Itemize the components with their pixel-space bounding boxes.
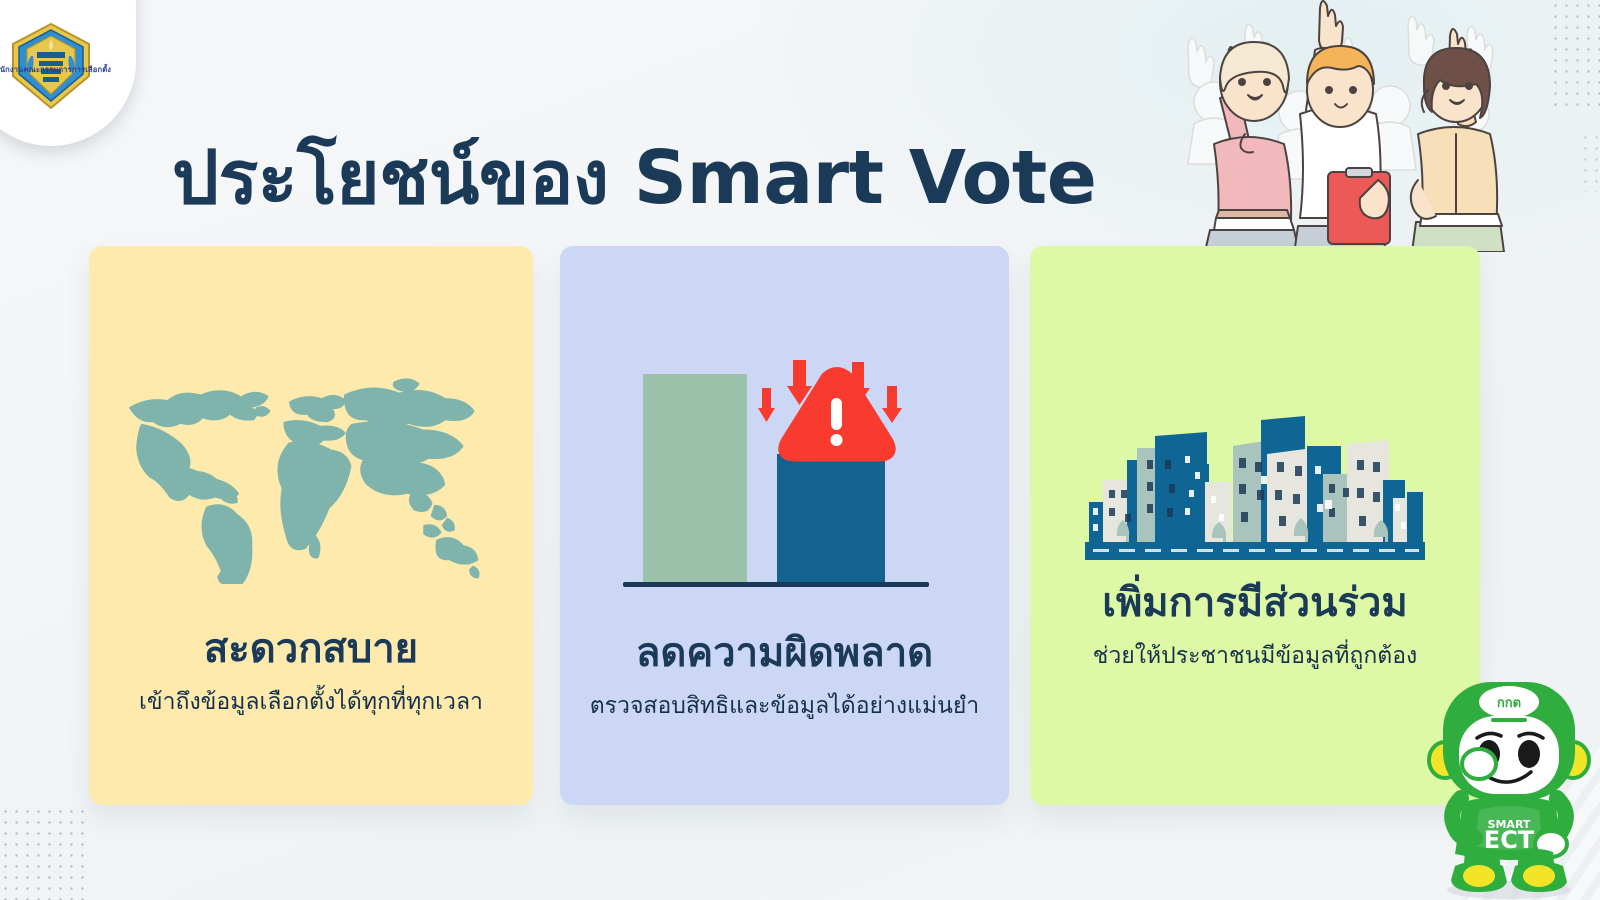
page-title: ประโยชน์ของ Smart Vote	[172, 118, 1096, 236]
bar-chart-with-warning-icon	[615, 336, 955, 604]
exclamation-bar	[831, 398, 842, 430]
dot-pattern-right-middle	[1580, 132, 1600, 192]
card-description: ช่วยให้ประชาชนมีข้อมูลที่ถูกต้อง	[1093, 638, 1418, 674]
card-heading: เพิ่มการมีส่วนร่วม	[1102, 582, 1407, 624]
mascot-hand-left	[1462, 749, 1496, 779]
exclamation-dot	[830, 434, 842, 446]
mascot-cap-brim	[1491, 718, 1527, 722]
mascot-eye-right	[1518, 740, 1540, 768]
down-arrow-1	[758, 388, 775, 422]
mascot-chest-main-text: ECT	[1484, 826, 1535, 854]
dot-pattern-top-right	[1550, 0, 1600, 114]
mascot-shoe-accent-right	[1523, 865, 1555, 887]
world-map-icon	[111, 354, 511, 584]
mascot-shoe-accent-left	[1463, 865, 1495, 887]
world-map-art-container	[89, 344, 533, 594]
bar-after	[777, 454, 885, 582]
smart-ect-mascot: กกต SMART ECT	[1421, 668, 1597, 900]
chart-baseline	[623, 582, 929, 587]
benefit-card-engagement: เพิ่มการมีส่วนร่วม ช่วยให้ประชาชนมีข้อมู…	[1030, 246, 1480, 805]
ect-logo-caption: สำนักงานคณะกรรมการการเลือกตั้ง	[0, 64, 136, 76]
dot-pattern-bottom-left	[0, 806, 88, 900]
people-raising-hands-illustration	[1150, 0, 1510, 252]
benefit-card-accuracy: ลดความผิดพลาด ตรวจสอบสิทธิและข้อมูลได้อย…	[560, 246, 1009, 805]
page-background: สำนักงานคณะกรรมการการเลือกตั้ง ประโยชน์ข…	[0, 0, 1600, 900]
card-description: เข้าถึงข้อมูลเลือกตั้งได้ทุกที่ทุกเวลา	[139, 684, 483, 720]
buildings	[1089, 416, 1423, 544]
card-heading: ลดความผิดพลาด	[636, 632, 933, 674]
cityscape-art-container	[1030, 404, 1480, 564]
down-arrow-4	[882, 386, 902, 423]
benefit-card-convenience: สะดวกสบาย เข้าถึงข้อมูลเลือกตั้งได้ทุกที…	[89, 246, 533, 805]
mascot-cap-text: กกต	[1497, 696, 1521, 711]
cityscape-icon	[1085, 404, 1425, 564]
card-description: ตรวจสอบสิทธิและข้อมูลได้อย่างแม่นยำ	[590, 688, 979, 724]
bar-chart-art-container	[560, 334, 1009, 606]
card-heading: สะดวกสบาย	[204, 628, 418, 670]
bar-before	[643, 374, 747, 582]
